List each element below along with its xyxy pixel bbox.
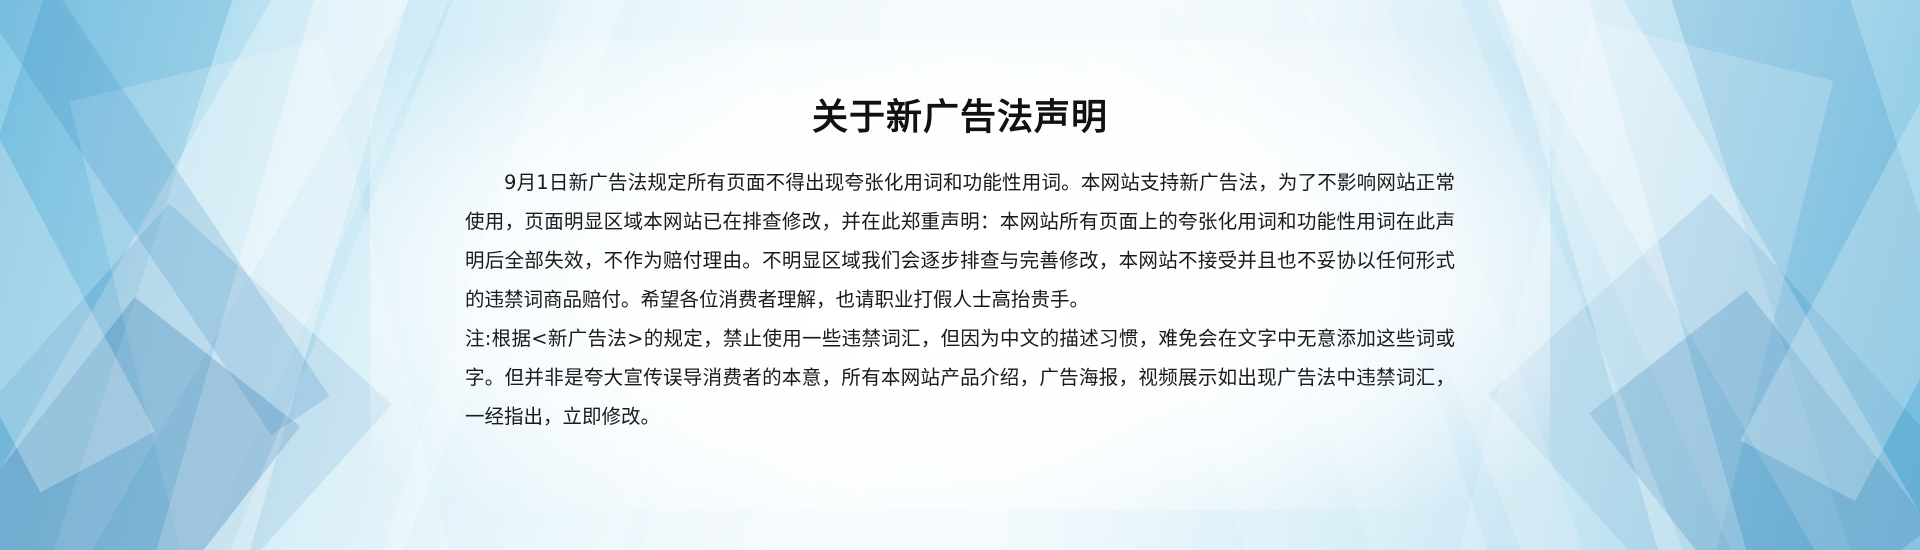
- background-shard: [1488, 194, 1920, 550]
- background-shard: [1740, 0, 1920, 501]
- statement-content: 关于新广告法声明 9月1日新广告法规定所有页面不得出现夸张化用词和功能性用词。本…: [465, 0, 1455, 550]
- background-shard: [1589, 290, 1920, 550]
- background-shard: [0, 0, 287, 550]
- background-shard: [1463, 0, 1920, 550]
- note-paragraph: 注:根据<新广告法>的规定，禁止使用一些违禁词汇，但因为中文的描述习惯，难免会在…: [465, 319, 1455, 436]
- page-title: 关于新广告法声明: [465, 0, 1455, 139]
- background-shard: [139, 0, 452, 550]
- background-shard: [1451, 0, 1764, 550]
- background-shard: [69, 39, 491, 550]
- background-shard: [0, 0, 465, 550]
- background-shard: [0, 204, 392, 550]
- statement-body: 9月1日新广告法规定所有页面不得出现夸张化用词和功能性用词。本网站支持新广告法，…: [465, 163, 1455, 436]
- background-shard: [0, 0, 417, 550]
- background-shard: [0, 0, 329, 435]
- background-shard: [1417, 20, 1834, 550]
- background-shard: [1623, 0, 1920, 550]
- background-shard: [0, 297, 300, 550]
- background-shard: [0, 8, 155, 493]
- page-root: 关于新广告法声明 9月1日新广告法规定所有页面不得出现夸张化用词和功能性用词。本…: [0, 0, 1920, 550]
- statement-paragraph: 9月1日新广告法规定所有页面不得出现夸张化用词和功能性用词。本网站支持新广告法，…: [465, 163, 1455, 319]
- background-shard: [1477, 0, 1920, 550]
